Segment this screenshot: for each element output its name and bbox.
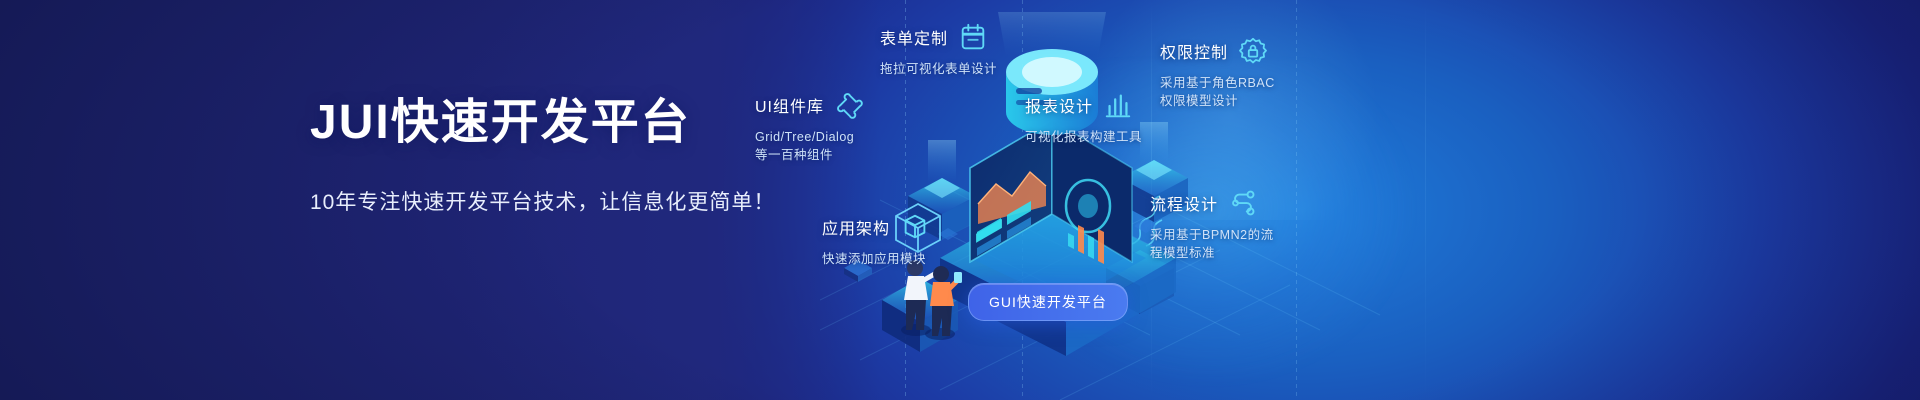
feature-access-control-desc: 采用基于角色RBAC 权限模型设计: [1160, 74, 1275, 110]
page-title: JUI快速开发平台: [310, 97, 830, 150]
feature-ui-library[interactable]: UI组件库 Grid/Tree/Dialog 等一百种组件: [755, 90, 864, 164]
feature-form-custom[interactable]: 表单定制 拖拉可视化表单设计: [880, 22, 997, 78]
gear-lock-icon: [1238, 36, 1268, 66]
feature-report-design-title: 报表设计: [1025, 93, 1093, 117]
page-subtitle: 10年专注快速开发平台技术，让信息化更简单！: [310, 186, 830, 216]
feature-process-design-desc: 采用基于BPMN2的流 程模型标准: [1150, 226, 1274, 262]
feature-form-custom-title: 表单定制: [880, 25, 948, 49]
puzzle-icon: [834, 90, 864, 120]
cube-wireframe-icon: [900, 212, 930, 242]
hero-text-block: JUI快速开发平台 10年专注快速开发平台技术，让信息化更简单！: [310, 97, 830, 216]
feature-app-architecture-desc: 快速添加应用模块: [822, 250, 930, 268]
feature-access-control-title: 权限控制: [1160, 39, 1228, 63]
flow-node-icon: [1228, 188, 1258, 218]
feature-ui-library-desc: Grid/Tree/Dialog 等一百种组件: [755, 128, 864, 164]
feature-app-architecture-title: 应用架构: [822, 215, 890, 239]
feature-access-control[interactable]: 权限控制 采用基于角色RBAC 权限模型设计: [1160, 36, 1275, 110]
feature-process-design-title: 流程设计: [1150, 191, 1218, 215]
feature-report-design[interactable]: 报表设计 可视化报表构建工具: [1025, 90, 1142, 146]
feature-app-architecture[interactable]: 应用架构 快速添加应用模块: [822, 212, 930, 268]
cta-platform-button[interactable]: GUI快速开发平台: [968, 283, 1128, 321]
feature-form-custom-desc: 拖拉可视化表单设计: [880, 60, 997, 78]
feature-report-design-desc: 可视化报表构建工具: [1025, 128, 1142, 146]
form-clipboard-icon: [958, 22, 988, 52]
feature-process-design[interactable]: 流程设计 采用基于BPMN2的流 程模型标准: [1150, 188, 1274, 262]
bar-chart-icon: [1103, 90, 1133, 120]
hero-banner: JUI快速开发平台 10年专注快速开发平台技术，让信息化更简单！ 表单定制 拖拉…: [0, 0, 1920, 400]
feature-ui-library-title: UI组件库: [755, 93, 824, 117]
